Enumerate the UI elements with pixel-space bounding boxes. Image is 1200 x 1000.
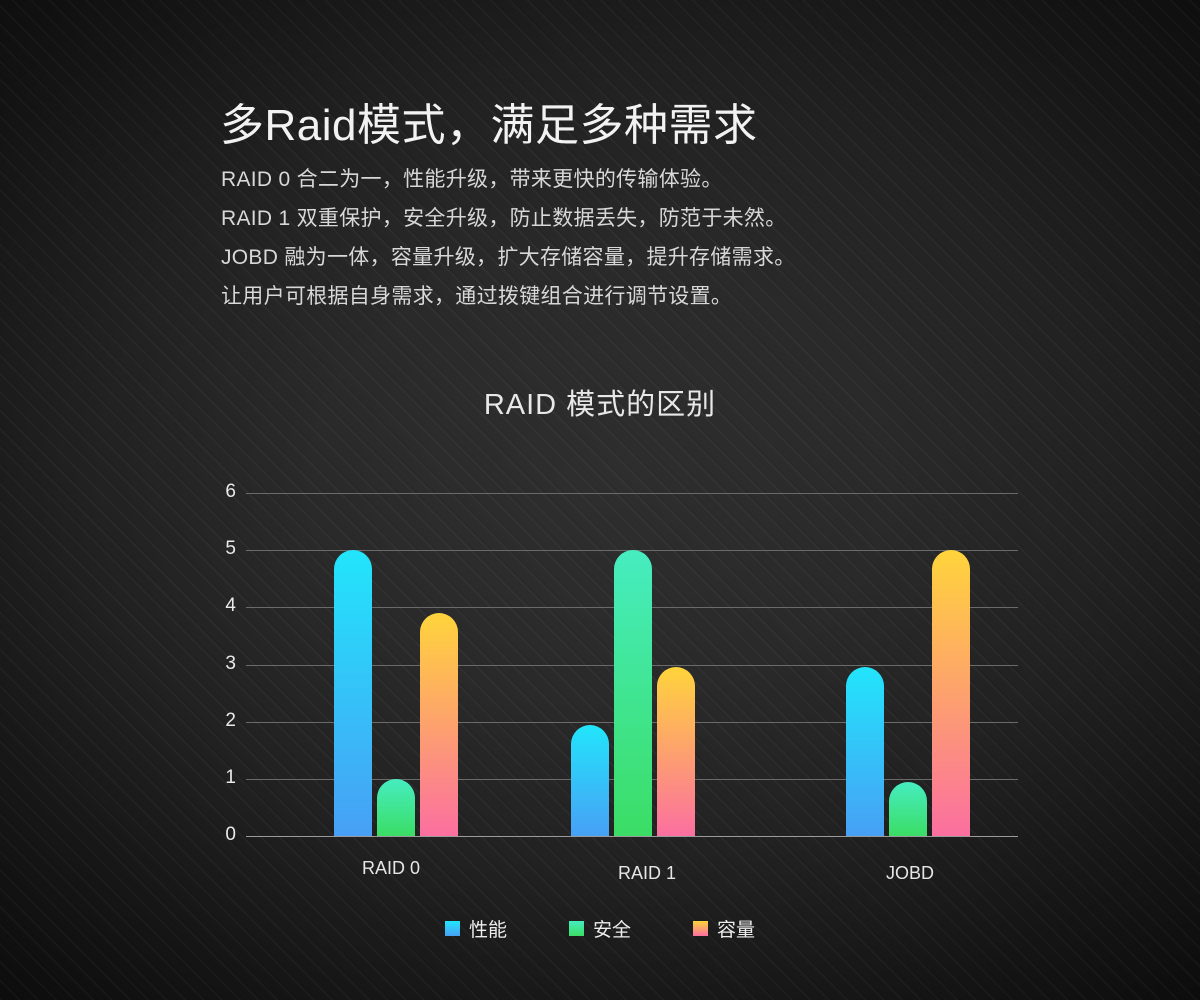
- bar-jobd-性能: [846, 667, 884, 836]
- legend-item-安全[interactable]: 安全: [569, 915, 631, 942]
- bar-jobd-安全: [889, 782, 927, 836]
- bar-raid-1-性能: [571, 725, 609, 836]
- x-axis-label-jobd: JOBD: [830, 863, 990, 884]
- legend-label: 容量: [717, 915, 755, 942]
- x-axis-label-raid-1: RAID 1: [567, 863, 727, 884]
- legend-label: 性能: [469, 915, 507, 942]
- content-area: 多Raid模式，满足多种需求 RAID 0 合二为一，性能升级，带来更快的传输体…: [0, 0, 1200, 1000]
- legend-item-性能[interactable]: 性能: [445, 915, 507, 942]
- y-axis-label-6: 6: [206, 481, 236, 503]
- y-axis-label-2: 2: [206, 710, 236, 732]
- bar-raid-1-容量: [657, 667, 695, 836]
- x-axis-label-raid-0: RAID 0: [311, 858, 471, 879]
- bar-raid-0-安全: [377, 779, 415, 836]
- y-axis-label-0: 0: [206, 824, 236, 846]
- legend-swatch-icon: [693, 921, 708, 936]
- y-axis-label-1: 1: [206, 767, 236, 789]
- legend-swatch-icon: [445, 921, 460, 936]
- legend-item-容量[interactable]: 容量: [693, 915, 755, 942]
- legend-label: 安全: [593, 915, 631, 942]
- bar-jobd-容量: [932, 550, 970, 836]
- bar-raid-0-容量: [420, 613, 458, 836]
- bar-chart: 0123456 RAID 0RAID 1JOBD: [0, 0, 1200, 1000]
- y-axis-label-5: 5: [206, 538, 236, 560]
- gridline-6: [246, 493, 1018, 494]
- y-axis-label-4: 4: [206, 595, 236, 617]
- legend-swatch-icon: [569, 921, 584, 936]
- bar-raid-0-性能: [334, 550, 372, 836]
- page-root: 多Raid模式，满足多种需求 RAID 0 合二为一，性能升级，带来更快的传输体…: [0, 0, 1200, 1000]
- chart-legend: 性能安全容量: [0, 915, 1200, 942]
- y-axis-label-3: 3: [206, 653, 236, 675]
- bar-raid-1-安全: [614, 550, 652, 836]
- gridline-0: [246, 836, 1018, 837]
